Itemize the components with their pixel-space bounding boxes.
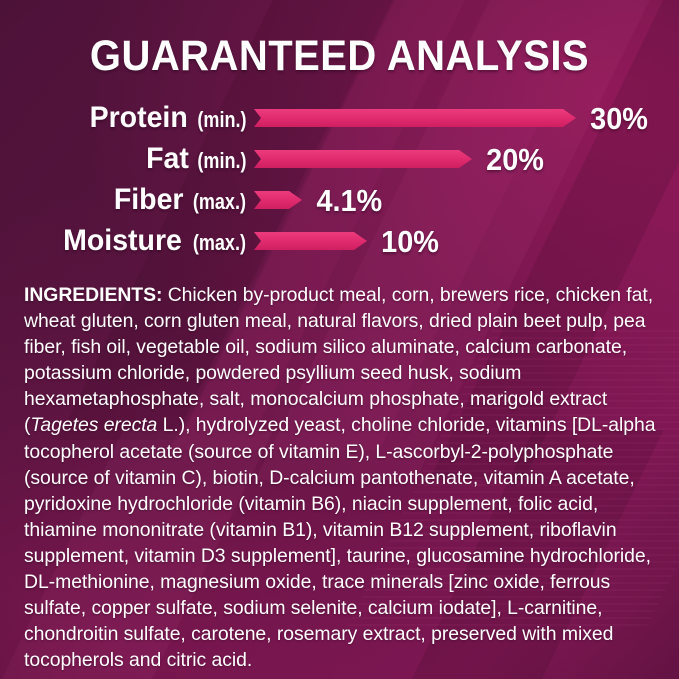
bar-wrap-protein: 30% (254, 99, 650, 137)
nutrient-qualifier: (min.) (197, 150, 246, 172)
nutrient-value-fiber: 4.1% (316, 185, 382, 216)
nutrient-label-fiber: Fiber(max.) (0, 185, 254, 215)
analysis-row-protein: Protein(min.) 30% (0, 99, 679, 137)
nutrient-label-fat: Fat(min.) (0, 144, 254, 174)
nutrient-value-fat: 20% (486, 144, 544, 175)
bar-wrap-fat: 20% (254, 140, 546, 178)
nutrient-label-moisture: Moisture(max.) (0, 226, 254, 256)
analysis-row-moisture: Moisture(max.) 10% (0, 222, 679, 260)
nutrient-name: Protein (89, 103, 187, 133)
ingredients-latin-name: Tagetes erecta (30, 414, 157, 436)
ingredients-block: INGREDIENTS: Chicken by-product meal, co… (24, 282, 657, 673)
nutrient-qualifier: (max.) (193, 191, 246, 213)
nutrient-name: Moisture (63, 226, 182, 256)
nutrient-qualifier: (max.) (193, 232, 246, 254)
page-title: GUARANTEED ANALYSIS (24, 0, 655, 81)
nutrient-name: Fat (146, 144, 189, 174)
nutrient-label-protein: Protein(min.) (0, 103, 254, 133)
nutrient-bar-fat (254, 150, 472, 168)
nutrient-value-moisture: 10% (381, 226, 439, 257)
bar-wrap-moisture: 10% (254, 222, 441, 260)
ingredients-heading: INGREDIENTS: (24, 284, 162, 306)
nutrient-name: Fiber (114, 185, 184, 215)
label-content: GUARANTEED ANALYSIS Protein(min.) 30% Fa… (0, 0, 679, 673)
ingredients-text-part2: L.), hydrolyzed yeast, choline chloride,… (24, 414, 655, 671)
nutrient-bar-protein (254, 109, 576, 127)
bar-wrap-fiber: 4.1% (254, 181, 385, 219)
analysis-row-fiber: Fiber(max.) 4.1% (0, 181, 679, 219)
analysis-rows: Protein(min.) 30% Fat(min.) 20% Fibe (0, 99, 679, 260)
nutrient-bar-fiber (254, 191, 302, 209)
guaranteed-analysis-label: GUARANTEED ANALYSIS Protein(min.) 30% Fa… (0, 0, 679, 679)
analysis-row-fat: Fat(min.) 20% (0, 140, 679, 178)
nutrient-bar-moisture (254, 232, 367, 250)
nutrient-value-protein: 30% (590, 103, 648, 134)
nutrient-qualifier: (min.) (197, 109, 246, 131)
